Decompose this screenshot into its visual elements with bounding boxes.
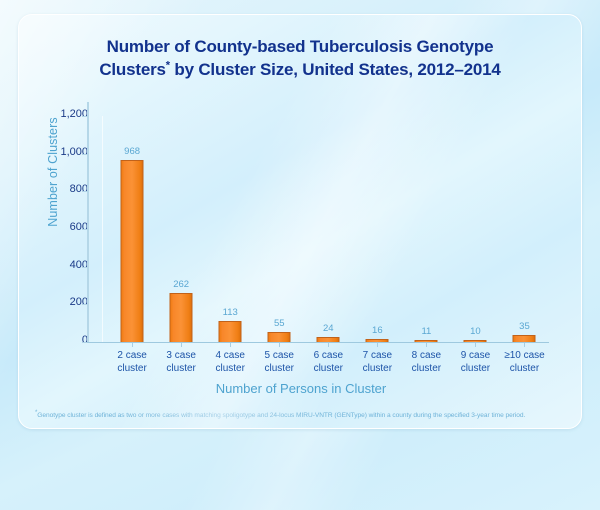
bar-value-label: 11 (421, 326, 431, 337)
bar[interactable] (219, 321, 242, 342)
x-axis-tick (328, 343, 329, 347)
x-axis-category-label: 8 casecluster (398, 349, 454, 375)
x-axis-category-line: 2 case (104, 349, 160, 362)
bar-value-label: 113 (223, 307, 238, 318)
x-axis-tick (132, 343, 133, 347)
bar[interactable] (170, 293, 193, 342)
chart-title-line-2-pre: Clusters (99, 60, 165, 79)
x-axis-category-line: cluster (447, 362, 503, 375)
x-axis-category-line: 3 case (153, 349, 209, 362)
x-axis-category-line: 6 case (300, 349, 356, 362)
x-axis-category-line: 4 case (202, 349, 258, 362)
bar-slot: 11 (402, 116, 451, 342)
bar-slot: 55 (255, 116, 304, 342)
x-axis-category-line: 9 case (447, 349, 503, 362)
bar-value-label: 55 (274, 318, 285, 329)
x-axis-category-line: cluster (251, 362, 307, 375)
x-axis-category-label: ≥10 casecluster (496, 349, 552, 375)
x-axis-category-line: cluster (496, 362, 552, 375)
x-axis-category-label: 6 casecluster (300, 349, 356, 375)
x-axis-category-line: cluster (398, 362, 454, 375)
x-axis-category-line: cluster (153, 362, 209, 375)
x-axis-tick (377, 343, 378, 347)
y-axis-tick-label: 600 (46, 221, 88, 233)
y-axis-tick-label: 0 (46, 334, 88, 346)
bar-value-label: 16 (372, 325, 383, 336)
x-axis-category-line: cluster (202, 362, 258, 375)
bar-value-label: 262 (173, 279, 189, 290)
x-axis-category-label: 3 casecluster (153, 349, 209, 375)
bar-slot: 10 (451, 116, 500, 342)
x-axis-category-label: 5 casecluster (251, 349, 307, 375)
x-axis-category-line: ≥10 case (496, 349, 552, 362)
x-axis-tick (279, 343, 280, 347)
chart-canvas: Number of County-based Tuberculosis Geno… (0, 0, 600, 510)
bar-slot: 24 (304, 116, 353, 342)
y-axis-tick-label: 200 (46, 296, 88, 308)
y-axis-tick-label: 1,200 (46, 108, 88, 120)
x-axis-title: Number of Persons in Cluster (19, 381, 582, 396)
x-axis-category-line: 8 case (398, 349, 454, 362)
x-axis-category-line: cluster (349, 362, 405, 375)
chart-title-line-2-post: by Cluster Size, United States, 2012–201… (170, 60, 501, 79)
bar[interactable] (317, 337, 340, 342)
x-axis-tick (426, 343, 427, 347)
bar[interactable] (415, 340, 438, 343)
x-axis-ticks (87, 343, 549, 348)
x-axis-tick (181, 343, 182, 347)
bar[interactable] (121, 160, 144, 342)
bar-slot: 262 (157, 116, 206, 342)
x-axis-category-label: 7 casecluster (349, 349, 405, 375)
chart-title-line-2: Clusters* by Cluster Size, United States… (19, 58, 581, 81)
bar-series: 968262113552416111035 (87, 116, 549, 342)
x-axis-category-line: 5 case (251, 349, 307, 362)
y-axis-tick-label: 400 (46, 259, 88, 271)
chart-panel: Number of County-based Tuberculosis Geno… (18, 14, 582, 429)
x-axis-tick (475, 343, 476, 347)
y-axis-tick-label: 1,000 (46, 146, 88, 158)
x-axis-tick (524, 343, 525, 347)
x-axis-tick (230, 343, 231, 347)
x-axis-category-line: cluster (300, 362, 356, 375)
bar[interactable] (268, 332, 291, 342)
bar-slot: 35 (500, 116, 549, 342)
x-axis-category-label: 2 casecluster (104, 349, 160, 375)
x-axis-category-label: 4 casecluster (202, 349, 258, 375)
y-axis-tick-label: 800 (46, 183, 88, 195)
bar-value-label: 24 (323, 323, 334, 334)
bar-value-label: 35 (519, 321, 530, 332)
bar-value-label: 10 (470, 326, 481, 337)
bar[interactable] (366, 339, 389, 342)
bar-slot: 968 (108, 116, 157, 342)
x-axis-category-label: 9 casecluster (447, 349, 503, 375)
bar-slot: 113 (206, 116, 255, 342)
x-axis-category-line: cluster (104, 362, 160, 375)
chart-title: Number of County-based Tuberculosis Geno… (19, 35, 581, 81)
bar[interactable] (513, 335, 536, 342)
x-axis-category-line: 7 case (349, 349, 405, 362)
x-axis-labels: 2 casecluster3 casecluster4 casecluster5… (87, 349, 549, 379)
bar[interactable] (464, 340, 487, 343)
bar-slot: 16 (353, 116, 402, 342)
bar-value-label: 968 (124, 146, 140, 157)
chart-title-line-1: Number of County-based Tuberculosis Geno… (19, 35, 581, 58)
